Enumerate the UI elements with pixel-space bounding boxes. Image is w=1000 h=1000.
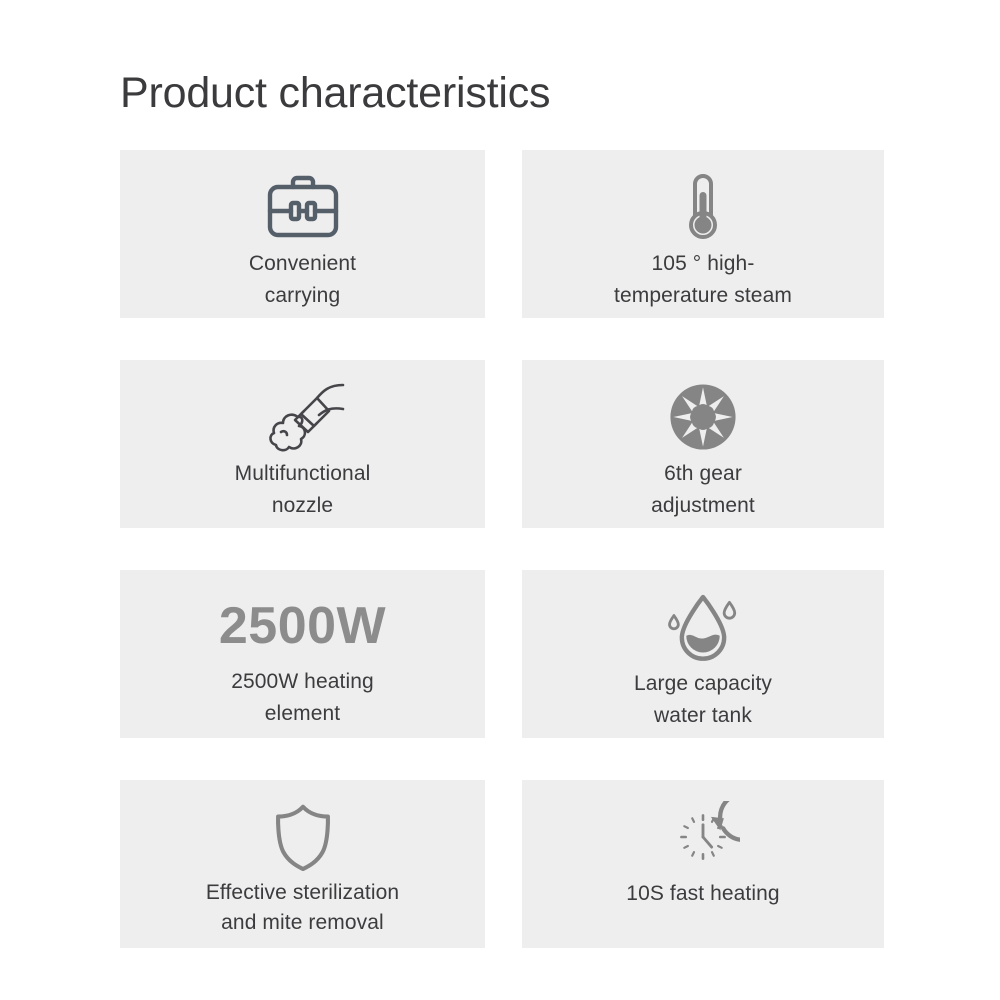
label-line-2: water tank bbox=[654, 704, 752, 727]
fan-dial-icon bbox=[666, 378, 740, 456]
label-line-2: element bbox=[265, 702, 340, 725]
label-line-1: 2500W heating bbox=[231, 670, 374, 693]
feature-card-label: Large capacity water tank bbox=[634, 668, 772, 731]
label-line-1: Convenient bbox=[249, 252, 356, 275]
feature-card-multifunctional-nozzle: Multifunctional nozzle bbox=[120, 360, 485, 528]
feature-card-label: Multifunctional nozzle bbox=[235, 458, 371, 521]
feature-card-heating-element: 2500W 2500W heating element bbox=[120, 570, 485, 738]
feature-card-label: 105 ° high- temperature steam bbox=[614, 248, 792, 311]
page-title: Product characteristics bbox=[120, 69, 550, 118]
feature-card-label: 6th gear adjustment bbox=[651, 458, 755, 521]
feature-card-high-temperature-steam: 105 ° high- temperature steam bbox=[522, 150, 884, 318]
feature-card-grid: Convenient carrying 105 ° high- temperat… bbox=[120, 150, 884, 948]
label-line-1: 6th gear bbox=[664, 462, 742, 485]
label-line-2: temperature steam bbox=[614, 284, 792, 307]
feature-card-label: 2500W heating element bbox=[231, 666, 374, 729]
feature-card-gear-adjustment: 6th gear adjustment bbox=[522, 360, 884, 528]
clock-arrow-icon bbox=[666, 798, 740, 876]
feature-card-water-tank: Large capacity water tank bbox=[522, 570, 884, 738]
thermometer-icon bbox=[677, 168, 729, 246]
product-characteristics-page: Product characteristics Convenient carry… bbox=[0, 0, 1000, 1000]
label-line-2: nozzle bbox=[272, 494, 333, 517]
feature-card-fast-heating: 10S fast heating bbox=[522, 780, 884, 948]
label-line-1: Effective sterilization bbox=[206, 881, 399, 904]
label-line-1: 105 ° high- bbox=[652, 252, 755, 275]
feature-card-label: 10S fast heating bbox=[626, 878, 779, 910]
feature-card-label: Convenient carrying bbox=[249, 248, 356, 311]
steam-nozzle-icon bbox=[257, 378, 349, 456]
label-line-2: adjustment bbox=[651, 494, 755, 517]
label-line-2: carrying bbox=[265, 284, 341, 307]
briefcase-icon bbox=[266, 168, 340, 246]
feature-card-label: Effective sterilization and mite removal bbox=[206, 878, 399, 939]
label-line-1: Multifunctional bbox=[235, 462, 371, 485]
label-line-1: 10S fast heating bbox=[626, 882, 779, 905]
wattage-value: 2500W bbox=[219, 600, 386, 652]
label-line-1: Large capacity bbox=[634, 672, 772, 695]
shield-icon bbox=[271, 798, 335, 876]
feature-card-convenient-carrying: Convenient carrying bbox=[120, 150, 485, 318]
label-line-2: and mite removal bbox=[221, 911, 384, 934]
wattage-text: 2500W bbox=[219, 588, 386, 664]
feature-card-sterilization: Effective sterilization and mite removal bbox=[120, 780, 485, 948]
water-drop-icon bbox=[662, 588, 744, 666]
